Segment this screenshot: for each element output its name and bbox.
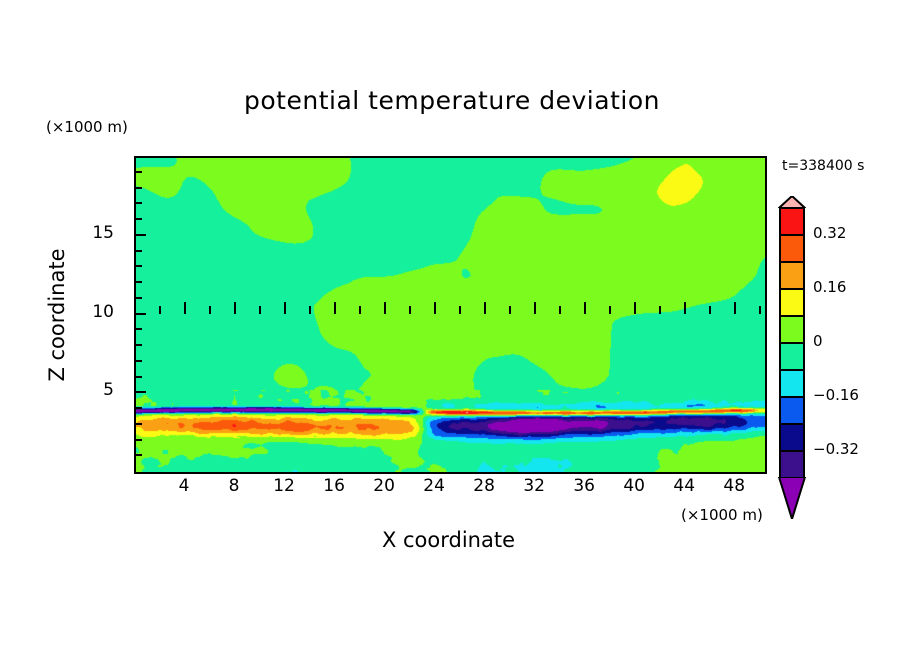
chart-title: potential temperature deviation bbox=[0, 86, 904, 115]
x-tick-major bbox=[684, 302, 686, 314]
y-tick-minor bbox=[134, 171, 142, 173]
x-tick-label: 24 bbox=[414, 476, 454, 496]
y-tick-minor bbox=[134, 281, 142, 283]
x-axis-unit-label: (×1000 m) bbox=[681, 506, 763, 524]
y-tick-minor bbox=[134, 218, 142, 220]
y-tick-minor bbox=[134, 423, 142, 425]
x-tick-minor bbox=[609, 306, 611, 314]
x-tick-label: 32 bbox=[514, 476, 554, 496]
x-tick-minor bbox=[759, 306, 761, 314]
x-tick-major bbox=[634, 302, 636, 314]
x-tick-label: 44 bbox=[664, 476, 704, 496]
x-tick-minor bbox=[259, 306, 261, 314]
x-tick-minor bbox=[509, 306, 511, 314]
x-tick-label: 8 bbox=[214, 476, 254, 496]
y-axis-title: Z coordinate bbox=[45, 215, 69, 415]
x-tick-label: 20 bbox=[364, 476, 404, 496]
x-tick-label: 28 bbox=[464, 476, 504, 496]
x-tick-minor bbox=[559, 306, 561, 314]
y-tick-minor bbox=[134, 376, 142, 378]
x-tick-major bbox=[334, 302, 336, 314]
colorbar-band bbox=[779, 315, 805, 344]
x-tick-label: 16 bbox=[314, 476, 354, 496]
plot-area bbox=[134, 156, 767, 474]
x-tick-label: 40 bbox=[614, 476, 654, 496]
figure-canvas: potential temperature deviation (×1000 m… bbox=[0, 0, 904, 654]
y-tick-major bbox=[134, 313, 146, 315]
x-axis-title: X coordinate bbox=[134, 528, 763, 552]
x-tick-major bbox=[434, 302, 436, 314]
x-tick-label: 4 bbox=[164, 476, 204, 496]
x-tick-label: 12 bbox=[264, 476, 304, 496]
y-tick-minor bbox=[134, 250, 142, 252]
y-tick-label: 5 bbox=[84, 380, 114, 400]
colorbar-band bbox=[779, 234, 805, 263]
x-tick-minor bbox=[359, 306, 361, 314]
y-tick-minor bbox=[134, 187, 142, 189]
x-tick-minor bbox=[159, 306, 161, 314]
colorbar-band bbox=[779, 396, 805, 425]
colorbar-band bbox=[779, 207, 805, 236]
x-tick-minor bbox=[459, 306, 461, 314]
colorbar-band bbox=[779, 450, 805, 479]
x-tick-major bbox=[484, 302, 486, 314]
y-tick-minor bbox=[134, 297, 142, 299]
x-tick-major bbox=[384, 302, 386, 314]
x-tick-minor bbox=[209, 306, 211, 314]
y-tick-minor bbox=[134, 265, 142, 267]
x-tick-major bbox=[184, 302, 186, 314]
x-tick-major bbox=[284, 302, 286, 314]
z-axis-unit-label: (×1000 m) bbox=[46, 118, 128, 136]
colorbar-tick-label: 0 bbox=[813, 332, 823, 350]
colorbar-band bbox=[779, 423, 805, 452]
y-tick-minor bbox=[134, 439, 142, 441]
contour-field bbox=[136, 158, 765, 472]
y-tick-label: 15 bbox=[84, 223, 114, 243]
colorbar-tick-label: −0.32 bbox=[813, 440, 859, 458]
x-tick-major bbox=[584, 302, 586, 314]
colorbar-tick-label: 0.32 bbox=[813, 224, 846, 242]
colorbar-tick-label: 0.16 bbox=[813, 278, 846, 296]
time-annotation: t=338400 s bbox=[782, 158, 864, 174]
colorbar-band bbox=[779, 369, 805, 398]
x-tick-label: 48 bbox=[714, 476, 754, 496]
y-tick-minor bbox=[134, 407, 142, 409]
colorbar-tick-label: −0.16 bbox=[813, 386, 859, 404]
y-tick-minor bbox=[134, 360, 142, 362]
x-tick-minor bbox=[709, 306, 711, 314]
y-tick-minor bbox=[134, 454, 142, 456]
y-tick-label: 10 bbox=[84, 302, 114, 322]
x-tick-label: 36 bbox=[564, 476, 604, 496]
x-tick-minor bbox=[309, 306, 311, 314]
x-tick-minor bbox=[659, 306, 661, 314]
y-tick-major bbox=[134, 234, 146, 236]
y-tick-minor bbox=[134, 202, 142, 204]
x-tick-major bbox=[734, 302, 736, 314]
colorbar-band bbox=[779, 342, 805, 371]
colorbar-band bbox=[779, 261, 805, 290]
x-tick-major bbox=[234, 302, 236, 314]
colorbar-band bbox=[779, 288, 805, 317]
y-tick-minor bbox=[134, 328, 142, 330]
x-tick-major bbox=[534, 302, 536, 314]
x-tick-minor bbox=[409, 306, 411, 314]
y-tick-minor bbox=[134, 344, 142, 346]
y-tick-major bbox=[134, 391, 146, 393]
colorbar-cap-low bbox=[778, 477, 806, 519]
